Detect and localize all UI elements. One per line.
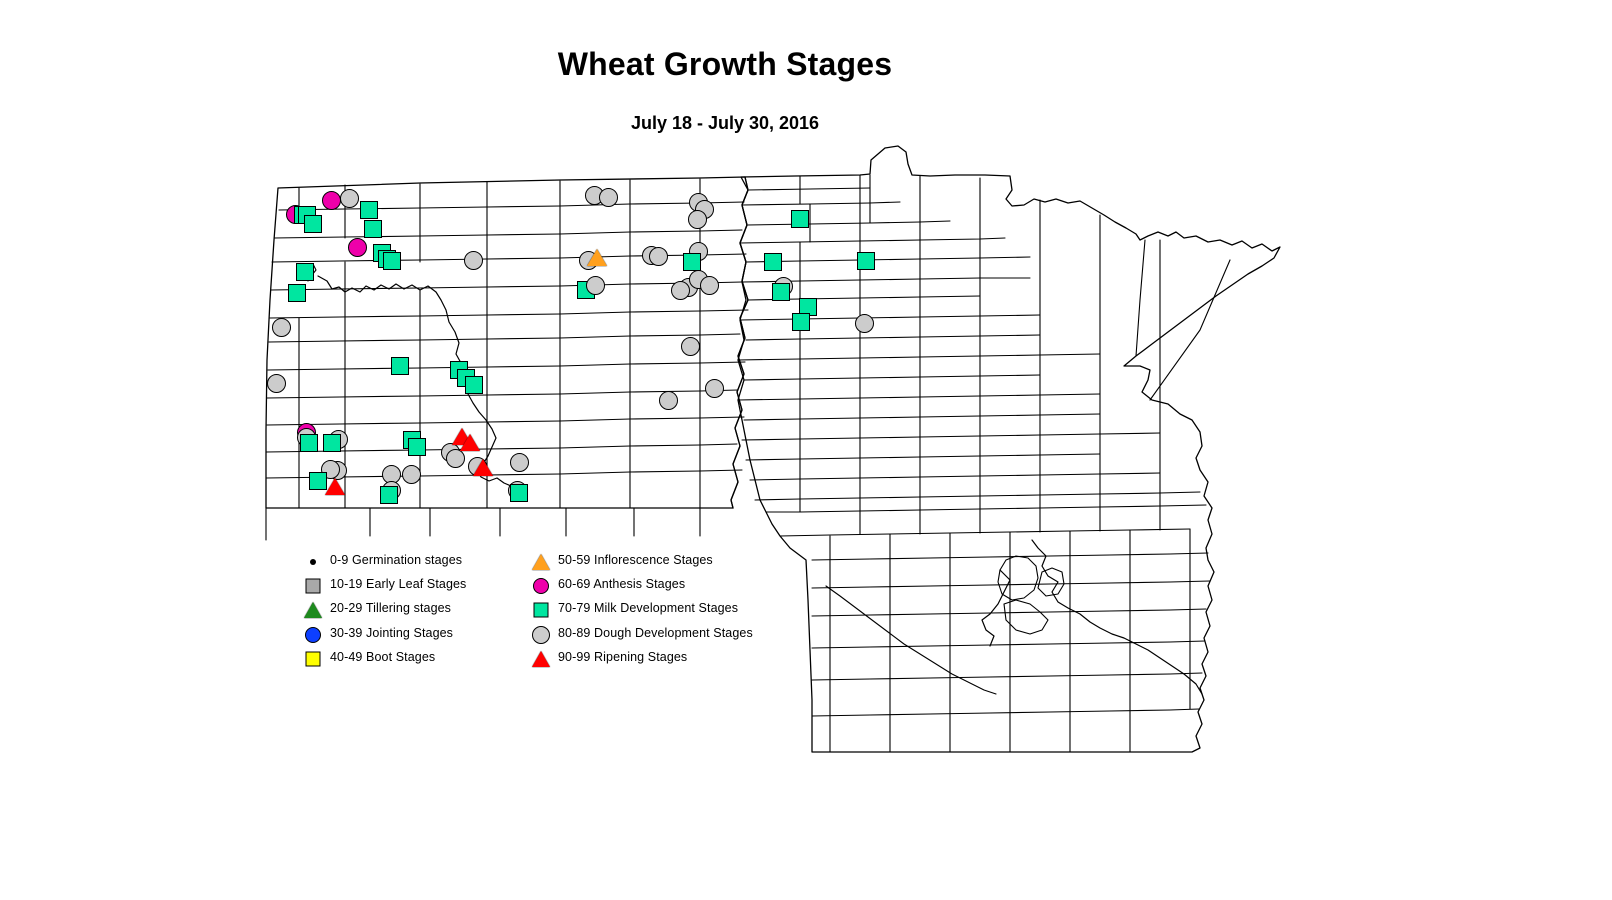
map-data-point [681, 337, 700, 356]
legend-item-anthesis-symbol-icon [528, 574, 554, 598]
map-data-point [855, 314, 874, 333]
map-data-point [460, 434, 480, 451]
legend-item-germination-symbol-icon [300, 550, 326, 574]
map-data-point [340, 189, 359, 208]
map-data-point [325, 478, 345, 495]
legend-item-ripening-symbol-icon [528, 647, 554, 671]
map-data-point [464, 251, 483, 270]
legend-item-boot-symbol-icon [300, 647, 326, 671]
map-data-point [688, 210, 707, 229]
map-data-point [649, 247, 668, 266]
map-data-point [791, 210, 809, 228]
map-data-point [510, 484, 528, 502]
legend-item-early-leaf-symbol-icon [300, 574, 326, 598]
map-data-point [671, 281, 690, 300]
map-data-point [683, 253, 701, 271]
map-data-point [659, 391, 678, 410]
legend-item-inflorescence-symbol-icon [528, 550, 554, 574]
legend-item-boot-label: 40-49 Boot Stages [330, 650, 435, 664]
nd-state-outline [266, 177, 748, 508]
map-data-point [296, 263, 314, 281]
map-data-point [772, 283, 790, 301]
legend: 0-9 Germination stages10-19 Early Leaf S… [300, 550, 770, 690]
legend-item-ripening-label: 90-99 Ripening Stages [558, 650, 687, 664]
legend-item-anthesis-label: 60-69 Anthesis Stages [558, 577, 685, 591]
legend-item-dough-label: 80-89 Dough Development Stages [558, 626, 753, 640]
map-data-point [288, 284, 306, 302]
legend-item-dough-symbol-icon [528, 623, 554, 647]
map-data-point [364, 220, 382, 238]
legend-item-inflorescence-label: 50-59 Inflorescence Stages [558, 553, 713, 567]
map-data-point [272, 318, 291, 337]
map-data-point [586, 276, 605, 295]
legend-item-tillering-label: 20-29 Tillering stages [330, 601, 451, 615]
map-data-point [700, 276, 719, 295]
map-canvas [0, 0, 1612, 900]
map-data-point [304, 215, 322, 233]
map-data-point [587, 249, 607, 266]
map-data-point [408, 438, 426, 456]
map-data-point [402, 465, 421, 484]
mn-state-outline [738, 146, 1280, 752]
map-data-point [323, 434, 341, 452]
map-data-point [473, 459, 493, 476]
map-data-point [599, 188, 618, 207]
map-data-point [446, 449, 465, 468]
map-data-point [267, 374, 286, 393]
map-figure: Wheat Growth Stages July 18 - July 30, 2… [0, 0, 1612, 900]
legend-item-tillering-symbol-icon [300, 598, 326, 622]
map-data-point [348, 238, 367, 257]
map-data-point [510, 453, 529, 472]
map-data-point [764, 253, 782, 271]
map-data-point [383, 252, 401, 270]
map-boundaries-svg [0, 0, 1612, 900]
legend-item-germination-label: 0-9 Germination stages [330, 553, 462, 567]
legend-item-milk-label: 70-79 Milk Development Stages [558, 601, 738, 615]
map-data-point [300, 434, 318, 452]
map-data-point [857, 252, 875, 270]
map-data-point [360, 201, 378, 219]
map-data-point [380, 486, 398, 504]
legend-item-early-leaf-label: 10-19 Early Leaf Stages [330, 577, 466, 591]
legend-item-jointing-symbol-icon [300, 623, 326, 647]
map-data-point [792, 313, 810, 331]
legend-item-jointing-label: 30-39 Jointing Stages [330, 626, 453, 640]
map-data-point [322, 191, 341, 210]
map-data-point [391, 357, 409, 375]
map-data-point [705, 379, 724, 398]
legend-item-milk-symbol-icon [528, 598, 554, 622]
map-data-point [465, 376, 483, 394]
